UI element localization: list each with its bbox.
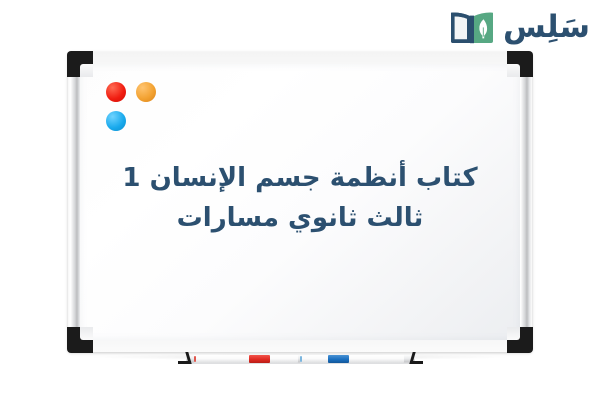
frame-corner-top-right — [507, 51, 533, 77]
marker-tray — [178, 352, 423, 372]
marker-tray-bracket-right — [409, 352, 423, 366]
title-line-1: كتاب أنظمة جسم الإنسان 1 — [80, 158, 520, 198]
open-book-icon — [449, 7, 495, 47]
marker-red[interactable] — [194, 355, 298, 363]
marker-red-band — [249, 355, 270, 363]
whiteboard: كتاب أنظمة جسم الإنسان 1 ثالث ثانوي مسار… — [68, 52, 532, 352]
marker-tray-bracket-left — [178, 352, 192, 366]
marker-blue-band — [328, 355, 349, 363]
frame-corner-top-left — [67, 51, 93, 77]
whiteboard-surface: كتاب أنظمة جسم الإنسان 1 ثالث ثانوي مسار… — [80, 64, 520, 340]
brand-name: سَلِس — [503, 12, 590, 43]
title-line-2: ثالث ثانوي مسارات — [80, 198, 520, 238]
marker-red-tip — [194, 356, 196, 362]
whiteboard-title: كتاب أنظمة جسم الإنسان 1 ثالث ثانوي مسار… — [80, 158, 520, 239]
marker-blue-tip — [300, 356, 302, 362]
brand-logo[interactable]: سَلِس — [449, 2, 590, 52]
marker-blue[interactable] — [300, 355, 404, 363]
whiteboard-frame-right-rail — [518, 52, 532, 352]
magnet-group — [106, 82, 176, 144]
magnet-blue[interactable] — [106, 111, 126, 131]
frame-corner-bottom-left — [67, 327, 93, 353]
magnet-red[interactable] — [106, 82, 126, 102]
frame-corner-bottom-right — [507, 327, 533, 353]
magnet-orange[interactable] — [136, 82, 156, 102]
